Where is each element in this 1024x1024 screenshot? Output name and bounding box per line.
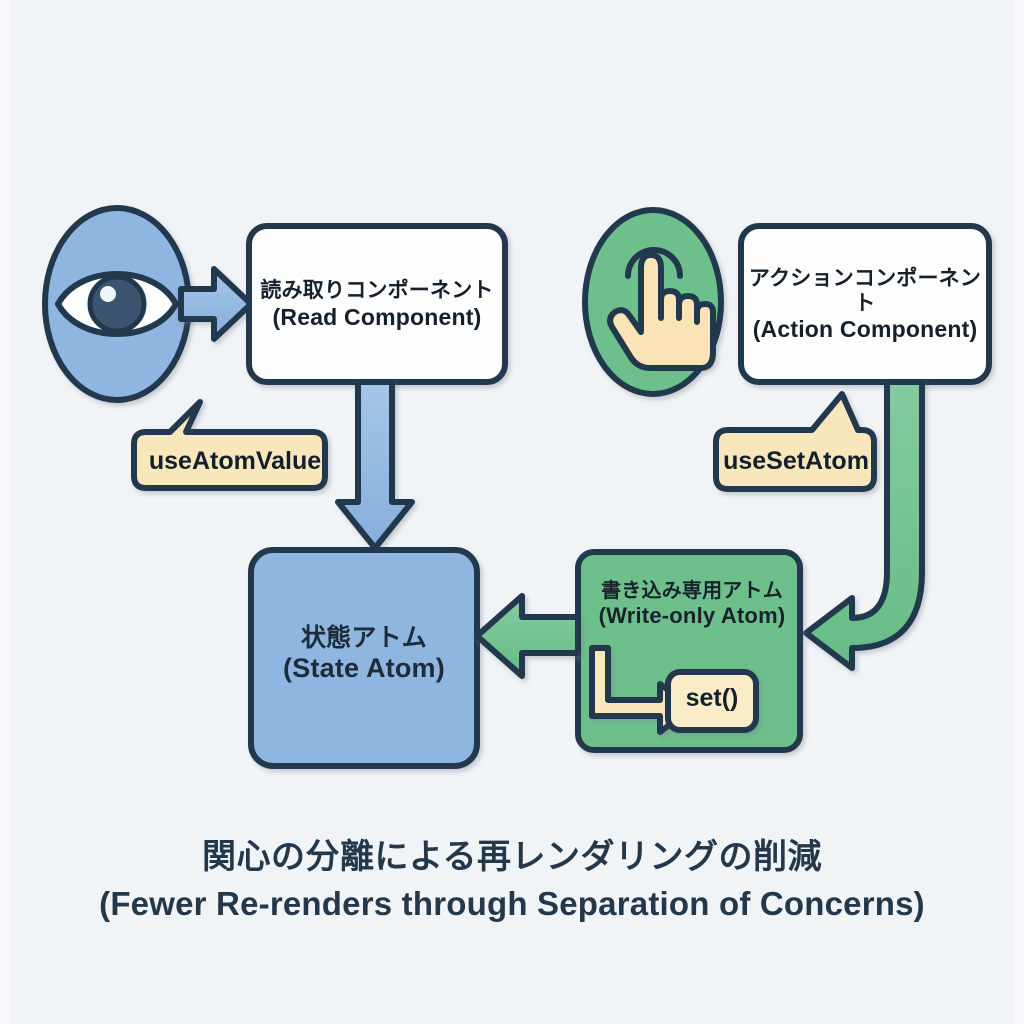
set-call-pill[interactable]	[668, 672, 756, 730]
callout-use-set-atom[interactable]	[716, 394, 874, 489]
edge-eye-to-read	[181, 269, 251, 339]
tap-hand-icon	[585, 210, 721, 394]
edge-read-to-state	[338, 382, 412, 548]
state-atom-node[interactable]	[251, 550, 477, 766]
read-component-node[interactable]	[249, 226, 505, 382]
edge-write-to-state	[477, 596, 578, 676]
diagram-canvas: 読み取りコンポーネント (Read Component) アクションコンポーネン…	[0, 0, 1024, 1024]
action-component-node[interactable]	[741, 226, 989, 382]
callout-use-atom-value[interactable]	[134, 402, 325, 488]
diagram-vector-layer	[0, 0, 1024, 1024]
eye-icon	[45, 208, 189, 400]
